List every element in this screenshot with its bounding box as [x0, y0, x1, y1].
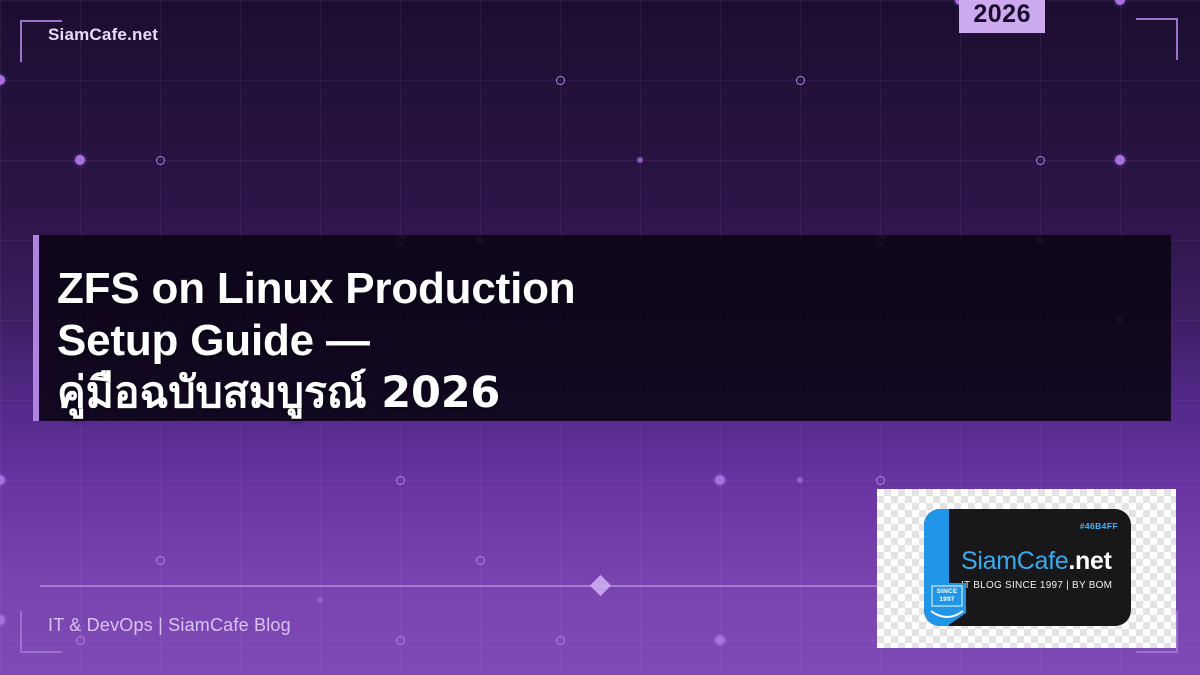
- since-ribbon-line-2: 1997: [939, 596, 954, 603]
- grid-node: [76, 636, 85, 645]
- logo-wordmark: SiamCafe.net: [961, 549, 1112, 574]
- title-line-3-thai: คู่มือฉบับสมบูรณ์ 2026: [57, 368, 500, 418]
- title-line-1: ZFS on Linux Production: [57, 264, 575, 313]
- grid-node: [0, 75, 5, 85]
- logo-badge: #46B4FF SiamCafe.net IT BLOG SINCE 1997 …: [924, 509, 1131, 626]
- title-line-2: Setup Guide —: [57, 316, 370, 365]
- grid-node: [1115, 155, 1125, 165]
- grid-node: [476, 556, 485, 565]
- grid-node: [876, 476, 885, 485]
- grid-node: [637, 157, 643, 163]
- since-ribbon-line-1: SINCE: [937, 588, 958, 595]
- grid-node: [0, 615, 5, 625]
- grid-node: [556, 76, 565, 85]
- page-title: ZFS on Linux ProductionSetup Guide —คู่ม…: [57, 263, 1147, 419]
- logo-wordmark-tld: .net: [1068, 547, 1111, 575]
- grid-node: [556, 636, 565, 645]
- grid-node: [797, 477, 803, 483]
- slide-canvas: SiamCafe.net 2026 ZFS on Linux Productio…: [0, 0, 1200, 675]
- logo-card: #46B4FF SiamCafe.net IT BLOG SINCE 1997 …: [877, 489, 1176, 648]
- grid-node: [796, 76, 805, 85]
- grid-node: [396, 476, 405, 485]
- grid-node: [1036, 156, 1045, 165]
- grid-node: [156, 156, 165, 165]
- grid-node: [396, 636, 405, 645]
- grid-node: [75, 155, 85, 165]
- since-ribbon-badge: SINCE1997: [928, 583, 966, 626]
- grid-node: [1115, 0, 1125, 5]
- grid-node: [0, 475, 5, 485]
- footer-caption: IT & DevOps | SiamCafe Blog: [48, 615, 291, 636]
- grid-node: [715, 635, 725, 645]
- grid-node: [156, 556, 165, 565]
- year-badge: 2026: [959, 0, 1045, 33]
- since-ribbon-text: SINCE1997: [928, 588, 966, 604]
- logo-tagline: IT BLOG SINCE 1997 | BY BOM: [961, 580, 1112, 591]
- grid-node: [715, 475, 725, 485]
- logo-wordmark-name: SiamCafe: [961, 547, 1068, 575]
- corner-bracket-top-right: [1136, 18, 1178, 60]
- divider-diamond-marker: [590, 575, 611, 596]
- brand-color-hex-label: #46B4FF: [1080, 521, 1118, 531]
- grid-node: [317, 597, 323, 603]
- brand-label: SiamCafe.net: [48, 25, 158, 45]
